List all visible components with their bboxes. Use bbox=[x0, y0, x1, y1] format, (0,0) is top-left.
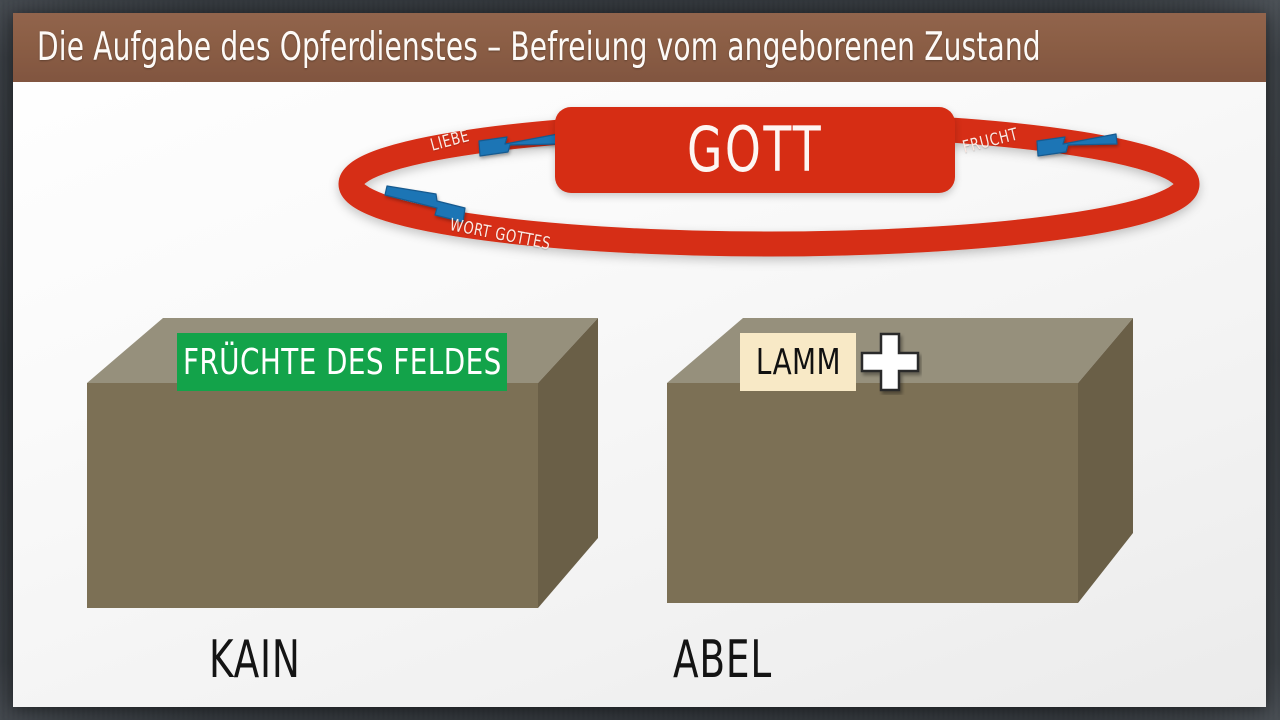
plus-cross-icon bbox=[858, 331, 922, 395]
god-center-box: GOTT bbox=[555, 107, 955, 193]
god-center-label: GOTT bbox=[687, 119, 823, 181]
god-cycle-diagram: GOTT LIEBE WORT GOTTES FRUCHT bbox=[13, 82, 1266, 272]
offering-tag-abel: LAMM bbox=[740, 333, 856, 391]
altar-name-abel: ABEL bbox=[673, 634, 797, 686]
slide-title: Die Aufgabe des Opferdienstes – Befreiun… bbox=[37, 25, 1041, 70]
altar-name-kain: KAIN bbox=[209, 634, 324, 686]
altar-name-abel-text: ABEL bbox=[673, 634, 772, 686]
slide-title-bar: Die Aufgabe des Opferdienstes – Befreiun… bbox=[13, 13, 1266, 82]
altar-name-kain-text: KAIN bbox=[209, 634, 301, 686]
offering-tag-kain: FRÜCHTE DES FELDES bbox=[177, 333, 507, 391]
altar-front-face bbox=[87, 383, 538, 608]
altar-front-face bbox=[667, 383, 1078, 603]
offering-tag-kain-label: FRÜCHTE DES FELDES bbox=[183, 342, 502, 383]
slide-stage: Die Aufgabe des Opferdienstes – Befreiun… bbox=[0, 0, 1280, 720]
offering-tag-abel-label: LAMM bbox=[755, 342, 840, 383]
presentation-slide: Die Aufgabe des Opferdienstes – Befreiun… bbox=[13, 13, 1266, 707]
